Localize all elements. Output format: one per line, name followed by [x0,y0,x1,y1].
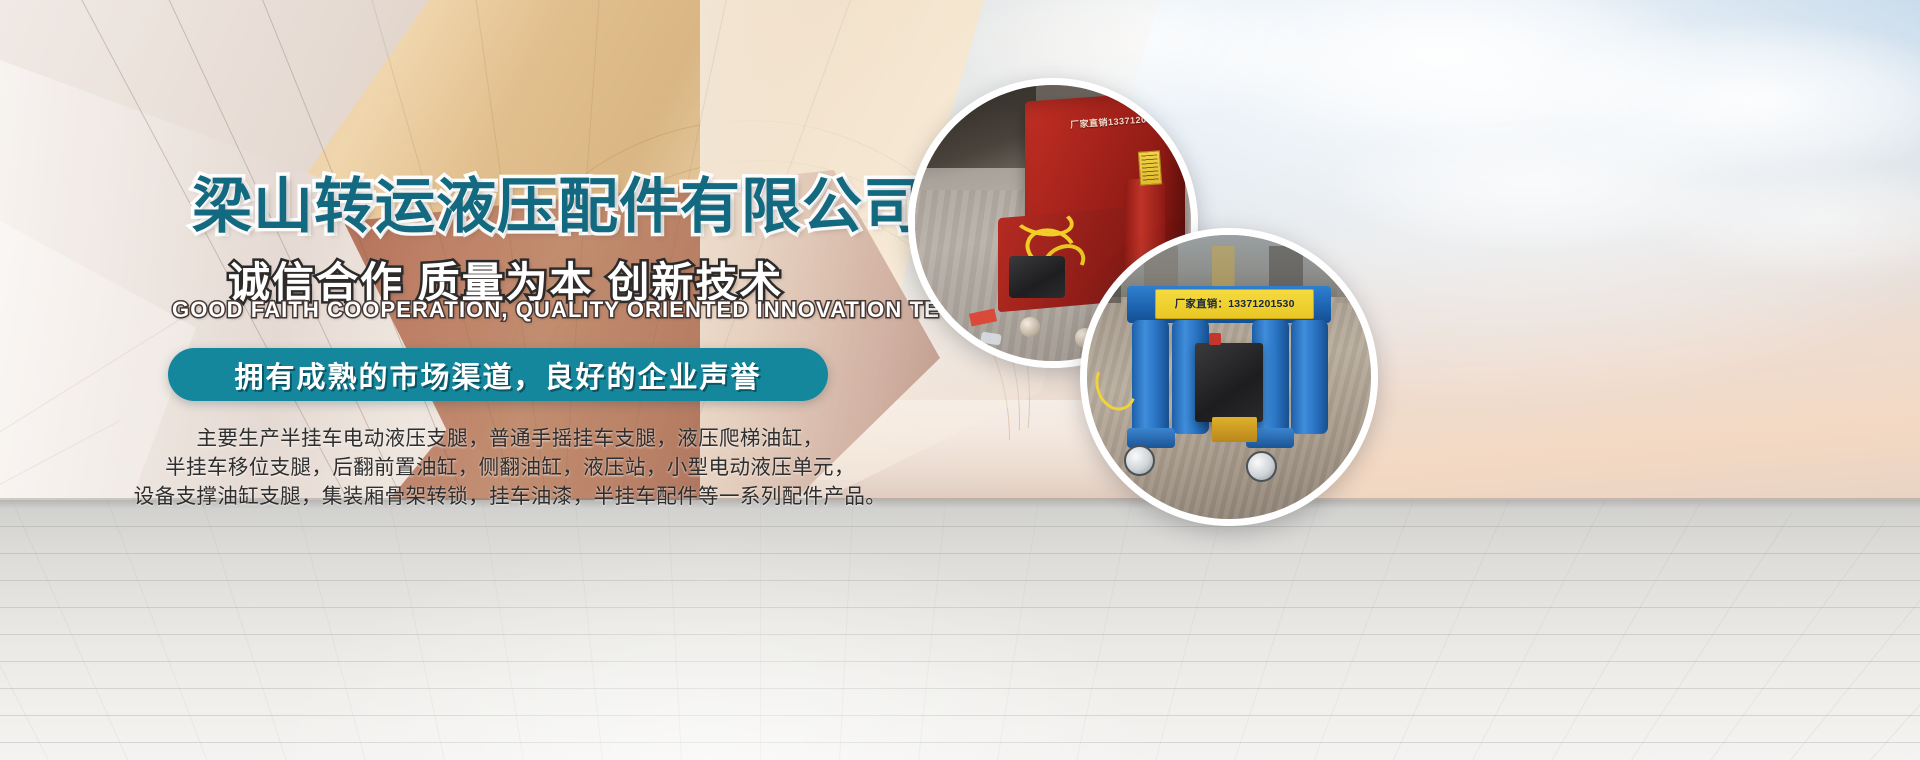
floor-tile-line [381,500,449,760]
floor-tile-line [99,500,215,760]
floor-tile-line [1150,500,1234,760]
floor-tile-line [994,500,1045,760]
floor-tile-lines [0,500,1920,760]
electric-motor-unit [1009,256,1065,298]
contact-sign-text: 厂家直销：13371201530 [1175,296,1295,311]
highlight-ribbon: 拥有成熟的市场渠道，良好的企业声誉 [168,348,828,401]
promotional-banner: 梁山转运液压配件有限公司 诚信合作 质量为本 创新技术 GOOD FAITH C… [0,0,1920,760]
floor-tile-line [1540,503,1701,760]
blue-support-leg [1132,320,1169,434]
floor-tile-line [1306,500,1422,760]
floor-tile-line [1228,500,1328,760]
floor-tile-line [838,500,856,760]
yellow-contact-sign: 厂家直销：13371201530 [1155,289,1314,319]
ribbon-label: 拥有成熟的市场渠道，良好的企业声誉 [234,354,761,396]
amber-component [1212,417,1257,443]
floor-tile-line [1384,500,1515,760]
plaza-floor [0,500,1920,760]
product-description: 主要生产半挂车电动液压支腿，普通手摇挂车支腿，液压爬梯油缸， 半挂车移位支腿，后… [60,424,960,511]
floor-tile-line [476,500,527,760]
floor-tile-line [193,500,293,760]
floor-tile-line [760,500,761,760]
floor-tile-line [287,500,371,760]
blue-photo-content: 厂家直销：13371201530 [1087,235,1371,519]
description-line-2: 半挂车移位支腿，后翻前置油缸，侧翻油缸，液压站，小型电动液压单元， [60,453,960,482]
blue-hydraulic-landing-gear-photo: 厂家直销：13371201530 [1080,228,1378,526]
description-line-3: 设备支撑油缸支腿，集装厢骨架转锁，挂车油漆，半挂车配件等一系列配件产品。 [60,482,960,511]
floor-tile-line [6,500,137,760]
floor-tile-line [1618,511,1793,760]
floor-tile-line [1696,521,1885,760]
floor-tile-line [916,500,951,760]
control-box [1195,343,1263,423]
blue-support-leg [1291,320,1328,434]
floor-tile-line [571,500,606,760]
caster-wheel [1020,317,1040,337]
floor-tile-line [1852,542,1920,760]
floor-tile-line [1462,500,1608,760]
floor-tile-line [1072,500,1140,760]
warning-sticker [1137,151,1161,186]
company-title: 梁山转运液压配件有限公司 [192,158,924,245]
description-line-1: 主要生产半挂车电动液压支腿，普通手摇挂车支腿，液压爬梯油缸， [60,424,960,453]
floor-tile-line [665,500,683,760]
floor-tile-line [1774,531,1920,760]
workshop-shadow-area [915,85,1036,168]
